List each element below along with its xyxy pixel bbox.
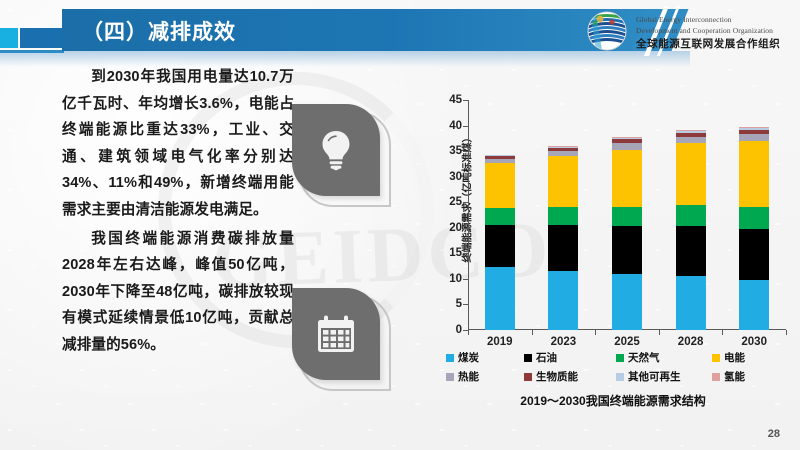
chart-bar-segment bbox=[548, 271, 578, 330]
chart-panel: 终端能源需求（亿吨标准煤） 051015202530354045 2019202… bbox=[432, 92, 794, 422]
logo-english-line-1: Global Energy Interconnection bbox=[636, 15, 732, 24]
chart-legend-item[interactable]: 生物质能 bbox=[524, 369, 616, 384]
lightbulb-badge bbox=[292, 104, 380, 196]
chart-legend: 煤炭石油天然气电能热能生物质能其他可再生氢能 bbox=[446, 350, 794, 388]
chart-x-tick-label: 2025 bbox=[597, 336, 657, 348]
chart-bar[interactable] bbox=[676, 130, 706, 330]
slide-canvas: GEIDCO （四）减排成效 bbox=[0, 0, 800, 450]
chart-bar-segment bbox=[485, 267, 515, 330]
chart-legend-label: 生物质能 bbox=[536, 369, 578, 384]
chart-bar[interactable] bbox=[548, 146, 578, 330]
chart-bar-segment bbox=[612, 274, 642, 330]
chart-x-tick-mark bbox=[532, 330, 533, 335]
chart-bar-segment bbox=[485, 208, 515, 224]
chart-legend-item[interactable]: 煤炭 bbox=[446, 350, 524, 365]
chart-x-tick-label: 2028 bbox=[661, 336, 721, 348]
chart-y-tick-mark bbox=[463, 126, 468, 127]
chart-x-tick-mark bbox=[468, 330, 469, 335]
chart-legend-swatch bbox=[712, 373, 720, 381]
logo-chinese-line: 全球能源互联网发展合作组织 bbox=[636, 36, 780, 51]
chart-legend-label: 电能 bbox=[724, 350, 745, 365]
chart-bar-segment bbox=[485, 225, 515, 267]
calendar-badge bbox=[292, 288, 380, 380]
chart-legend-item[interactable]: 氢能 bbox=[712, 369, 782, 384]
chart-bar-segment bbox=[676, 143, 706, 205]
chart-x-tick-mark bbox=[659, 330, 660, 335]
header-tab-blue bbox=[20, 28, 64, 48]
chart-legend-item[interactable]: 其他可再生 bbox=[616, 369, 712, 384]
chart-plot-area: 051015202530354045 20192023202520282030 bbox=[468, 100, 786, 330]
chart-bar-segment bbox=[485, 163, 515, 208]
chart-legend-swatch bbox=[446, 373, 454, 381]
chart-legend-label: 天然气 bbox=[628, 350, 660, 365]
chart-bar-segment bbox=[548, 207, 578, 224]
body-paragraph-1: 到2030年我国用电量达10.7万亿千瓦时、年均增长3.6%，电能占终端能源比重… bbox=[62, 64, 294, 224]
chart-bar-segment bbox=[548, 156, 578, 207]
chart-x-tick-label: 2030 bbox=[724, 336, 784, 348]
chart-y-tick-mark bbox=[463, 279, 468, 280]
calendar-icon bbox=[292, 288, 380, 380]
organization-logo: Global Energy Interconnection Developmen… bbox=[586, 8, 796, 54]
chart-y-tick-mark bbox=[463, 100, 468, 101]
chart-bar-segment bbox=[676, 226, 706, 277]
chart-legend-swatch bbox=[616, 354, 624, 362]
chart-bar-segment bbox=[676, 205, 706, 225]
chart-legend-swatch bbox=[524, 354, 532, 362]
header-tab-underline bbox=[0, 50, 64, 53]
chart-bar-segment bbox=[612, 207, 642, 226]
chart-bar-segment bbox=[739, 207, 769, 229]
body-text: 到2030年我国用电量达10.7万亿千瓦时、年均增长3.6%，电能占终端能源比重… bbox=[62, 64, 294, 361]
chart-bar-segment bbox=[739, 141, 769, 207]
chart-y-tick-mark bbox=[463, 177, 468, 178]
chart-y-tick-mark bbox=[463, 253, 468, 254]
chart-legend-label: 石油 bbox=[536, 350, 557, 365]
chart-y-tick-mark bbox=[463, 202, 468, 203]
header-tab-cyan bbox=[0, 28, 18, 48]
chart-bar-segment bbox=[612, 226, 642, 274]
chart-bar-segment bbox=[676, 276, 706, 330]
chart-bar-segment bbox=[548, 225, 578, 271]
chart-bar-segment bbox=[612, 150, 642, 207]
logo-english-line-2: Development and Cooperation Organization bbox=[636, 26, 773, 35]
chart-y-tick-mark bbox=[463, 151, 468, 152]
chart-legend-item[interactable]: 热能 bbox=[446, 369, 524, 384]
chart-bar-segment bbox=[739, 134, 769, 141]
chart-bar-segment bbox=[739, 280, 769, 330]
chart-caption: 2019～2030我国终端能源需求结构 bbox=[432, 392, 794, 409]
chart-legend-swatch bbox=[712, 354, 720, 362]
page-title: （四）减排成效 bbox=[82, 16, 236, 46]
chart-bar[interactable] bbox=[739, 127, 769, 330]
chart-legend-item[interactable]: 电能 bbox=[712, 350, 782, 365]
chart-x-tick-label: 2023 bbox=[533, 336, 593, 348]
chart-x-tick-label: 2019 bbox=[470, 336, 530, 348]
chart-legend-item[interactable]: 石油 bbox=[524, 350, 616, 365]
chart-legend-label: 其他可再生 bbox=[628, 369, 681, 384]
chart-y-tick-mark bbox=[463, 304, 468, 305]
chart-bar-segment bbox=[612, 143, 642, 150]
chart-y-axis bbox=[468, 100, 469, 330]
chart-bar-segment bbox=[739, 229, 769, 280]
chart-bar[interactable] bbox=[612, 137, 642, 330]
lightbulb-icon bbox=[292, 104, 380, 196]
chart-legend-swatch bbox=[446, 354, 454, 362]
body-paragraph-2: 我国终端能源消费碳排放量2028年左右达峰，峰值50亿吨，2030年下降至48亿… bbox=[62, 226, 294, 359]
chart-legend-label: 煤炭 bbox=[458, 350, 479, 365]
chart-legend-swatch bbox=[616, 373, 624, 381]
chart-bar[interactable] bbox=[485, 155, 515, 330]
globe-icon bbox=[586, 10, 628, 52]
chart-legend-item[interactable]: 天然气 bbox=[616, 350, 712, 365]
chart-x-tick-mark bbox=[595, 330, 596, 335]
chart-legend-label: 热能 bbox=[458, 369, 479, 384]
chart-legend-swatch bbox=[524, 373, 532, 381]
chart-y-tick-mark bbox=[463, 228, 468, 229]
page-number: 28 bbox=[768, 428, 780, 440]
chart-x-tick-mark bbox=[722, 330, 723, 335]
chart-legend-label: 氢能 bbox=[724, 369, 745, 384]
chart-x-tick-mark bbox=[786, 330, 787, 335]
